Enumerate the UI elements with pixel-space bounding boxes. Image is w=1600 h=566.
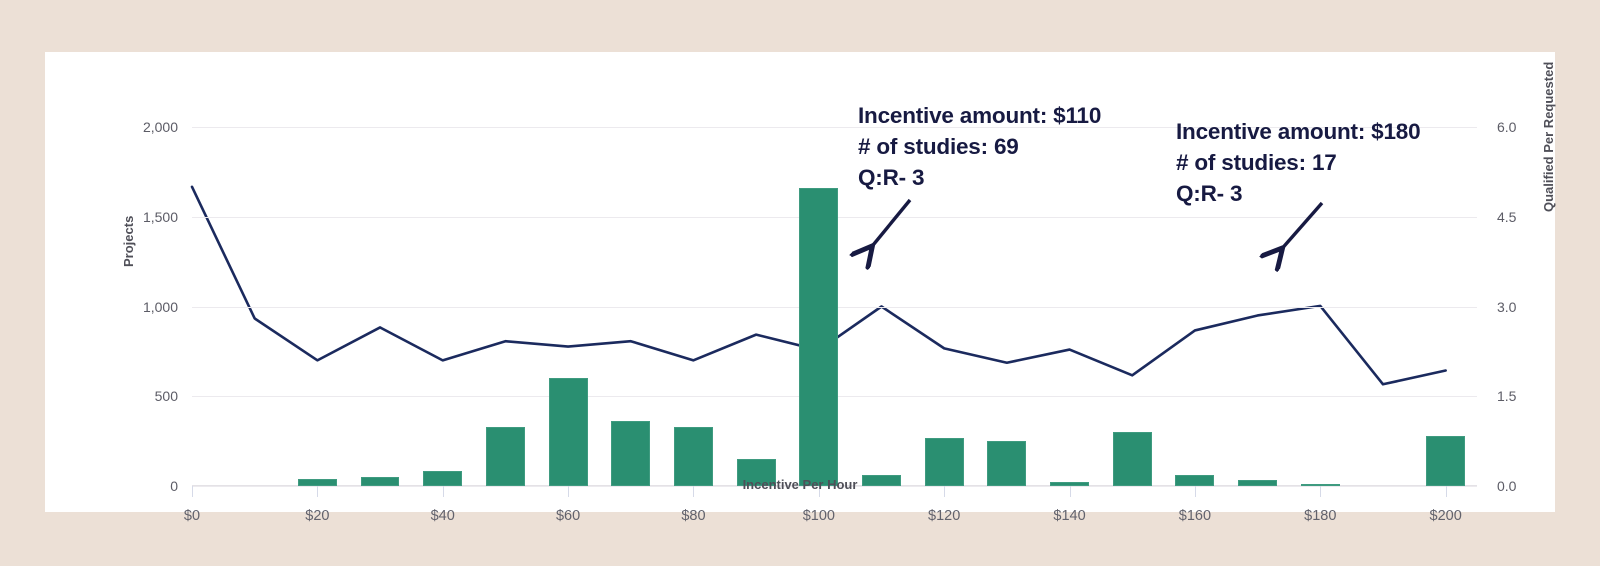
x-axis-tick-label: $20	[305, 508, 329, 524]
annotation-110-line-1: Incentive amount: $110	[858, 100, 1101, 131]
y-axis-tick-left: 1,000	[143, 299, 178, 315]
y-axis-tick-right: 6.0	[1497, 119, 1516, 135]
annotation-180-line-2: # of studies: 17	[1176, 147, 1420, 178]
y-axis-tick-left: 500	[155, 388, 178, 404]
x-axis-tick-label: $80	[681, 508, 705, 524]
y-axis-tick-left: 1,500	[143, 209, 178, 225]
annotation-180: Incentive amount: $180 # of studies: 17 …	[1176, 116, 1420, 209]
x-axis-tick-label: $40	[431, 508, 455, 524]
y-axis-tick-left: 2,000	[143, 119, 178, 135]
y-axis-title-right: Qualified Per Requested	[1541, 62, 1556, 212]
x-axis-tick-label: $60	[556, 508, 580, 524]
annotation-110: Incentive amount: $110 # of studies: 69 …	[858, 100, 1101, 193]
y-axis-tick-right: 1.5	[1497, 388, 1516, 404]
annotation-110-line-2: # of studies: 69	[858, 131, 1101, 162]
bar[interactable]	[549, 378, 588, 486]
x-axis-tick-label: $160	[1179, 508, 1211, 524]
y-axis-tick-right: 4.5	[1497, 209, 1516, 225]
y-axis-title-left: Projects	[121, 216, 136, 267]
x-axis-tick-label: $0	[184, 508, 200, 524]
x-axis-tick-label: $200	[1430, 508, 1462, 524]
x-axis-tick-label: $140	[1053, 508, 1085, 524]
y-axis-tick-right: 3.0	[1497, 299, 1516, 315]
x-axis-tick-label: $120	[928, 508, 960, 524]
bar[interactable]	[799, 188, 838, 486]
x-axis-tick-label: $100	[803, 508, 835, 524]
annotation-110-line-3: Q:R- 3	[858, 162, 1101, 193]
x-axis-title: Incentive Per Hour	[0, 477, 1600, 492]
annotation-180-line-3: Q:R- 3	[1176, 178, 1420, 209]
chart-page: 05001,0001,5002,0000.01.53.04.56.0$0$20$…	[0, 0, 1600, 566]
annotation-180-line-1: Incentive amount: $180	[1176, 116, 1420, 147]
x-axis-tick-label: $180	[1304, 508, 1336, 524]
